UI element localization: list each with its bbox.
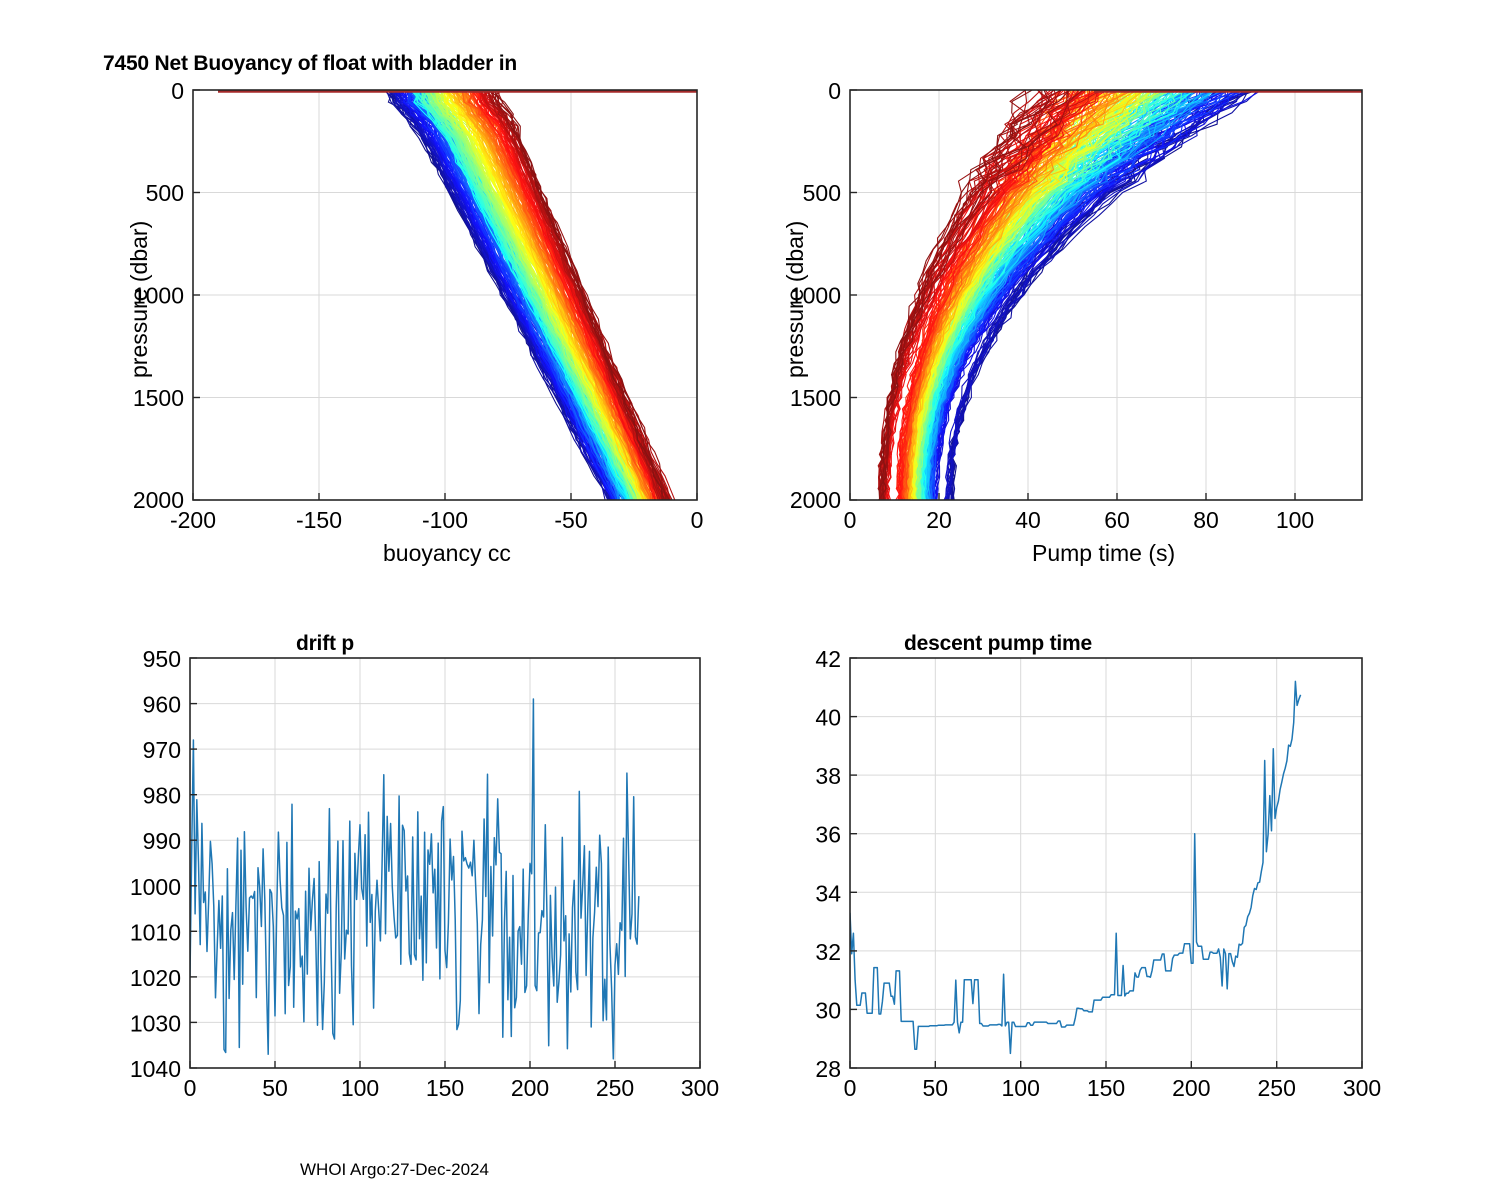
svg-text:500: 500 bbox=[146, 180, 184, 206]
panel-drift-p: drift p bbox=[0, 570, 740, 1150]
svg-text:80: 80 bbox=[1193, 507, 1219, 533]
net-buoyancy-xticklabels: -200 -150 -100 -50 0 bbox=[170, 507, 703, 533]
svg-text:0: 0 bbox=[184, 1075, 197, 1101]
svg-text:960: 960 bbox=[143, 692, 181, 718]
svg-text:40: 40 bbox=[1015, 507, 1041, 533]
svg-text:100: 100 bbox=[1276, 507, 1314, 533]
panel-net-buoyancy: 7450 Net Buoyancy of float with bladder … bbox=[0, 0, 740, 580]
svg-text:200: 200 bbox=[511, 1075, 549, 1101]
svg-text:-150: -150 bbox=[296, 507, 342, 533]
svg-text:2000: 2000 bbox=[790, 487, 841, 513]
svg-text:0: 0 bbox=[844, 507, 857, 533]
drift-p-yticklabels: 950 960 970 980 990 1000 1010 1020 1030 … bbox=[130, 646, 181, 1082]
net-buoyancy-xlabel: buoyancy cc bbox=[383, 540, 511, 567]
svg-text:28: 28 bbox=[815, 1056, 841, 1082]
svg-text:150: 150 bbox=[426, 1075, 464, 1101]
svg-text:250: 250 bbox=[1258, 1075, 1296, 1101]
svg-text:-100: -100 bbox=[422, 507, 468, 533]
pump-time-xticklabels: 0 20 40 60 80 100 bbox=[844, 507, 1315, 533]
svg-text:0: 0 bbox=[171, 78, 184, 104]
svg-text:1030: 1030 bbox=[130, 1010, 181, 1036]
drift-p-xticklabels: 0 50 100 150 200 250 300 bbox=[184, 1075, 720, 1101]
panel-pump-time: 0 20 40 60 80 100 0 500 1000 1500 2000 P… bbox=[660, 0, 1400, 580]
svg-text:30: 30 bbox=[815, 997, 841, 1023]
pump-time-xlabel: Pump time (s) bbox=[1032, 540, 1175, 567]
svg-text:40: 40 bbox=[815, 705, 841, 731]
descent-pump-time-yticklabels: 42 40 38 36 34 32 30 28 bbox=[815, 646, 841, 1082]
figure-footer: WHOI Argo:27-Dec-2024 bbox=[300, 1160, 489, 1180]
svg-text:38: 38 bbox=[815, 763, 841, 789]
svg-text:1500: 1500 bbox=[133, 385, 184, 411]
svg-text:980: 980 bbox=[143, 783, 181, 809]
pump-time-axes: 0 20 40 60 80 100 0 500 1000 1500 2000 bbox=[660, 0, 1420, 580]
svg-text:150: 150 bbox=[1087, 1075, 1125, 1101]
svg-text:2000: 2000 bbox=[133, 487, 184, 513]
svg-text:60: 60 bbox=[1104, 507, 1130, 533]
net-buoyancy-axes: -200 -150 -100 -50 0 0 500 1000 1500 200… bbox=[0, 0, 740, 580]
svg-text:20: 20 bbox=[926, 507, 952, 533]
svg-text:250: 250 bbox=[596, 1075, 634, 1101]
panel-descent-pump-time: descent pump time bbox=[660, 570, 1420, 1150]
svg-text:36: 36 bbox=[815, 822, 841, 848]
svg-text:500: 500 bbox=[803, 180, 841, 206]
svg-text:32: 32 bbox=[815, 939, 841, 965]
svg-text:42: 42 bbox=[815, 646, 841, 672]
svg-text:1040: 1040 bbox=[130, 1056, 181, 1082]
svg-text:200: 200 bbox=[1172, 1075, 1210, 1101]
svg-text:0: 0 bbox=[828, 78, 841, 104]
svg-text:50: 50 bbox=[262, 1075, 288, 1101]
svg-text:50: 50 bbox=[923, 1075, 949, 1101]
svg-text:100: 100 bbox=[1002, 1075, 1040, 1101]
argo-diagnostic-figure: 7450 Net Buoyancy of float with bladder … bbox=[0, 0, 1500, 1200]
svg-text:34: 34 bbox=[815, 880, 841, 906]
svg-text:1000: 1000 bbox=[130, 874, 181, 900]
descent-pump-time-axes: 0 50 100 150 200 250 300 42 40 38 36 34 … bbox=[660, 570, 1420, 1150]
pump-time-ylabel: pressure (dbar) bbox=[782, 221, 809, 378]
svg-text:100: 100 bbox=[341, 1075, 379, 1101]
svg-text:1500: 1500 bbox=[790, 385, 841, 411]
svg-text:0: 0 bbox=[844, 1075, 857, 1101]
descent-pump-time-xticklabels: 0 50 100 150 200 250 300 bbox=[844, 1075, 1382, 1101]
net-buoyancy-ylabel: pressure (dbar) bbox=[126, 221, 153, 378]
svg-text:970: 970 bbox=[143, 737, 181, 763]
svg-text:1010: 1010 bbox=[130, 919, 181, 945]
svg-text:300: 300 bbox=[1343, 1075, 1381, 1101]
svg-text:990: 990 bbox=[143, 828, 181, 854]
drift-p-axes: 0 50 100 150 200 250 300 950 960 970 980… bbox=[0, 570, 740, 1150]
svg-text:1020: 1020 bbox=[130, 965, 181, 991]
svg-text:950: 950 bbox=[143, 646, 181, 672]
svg-text:-50: -50 bbox=[554, 507, 587, 533]
